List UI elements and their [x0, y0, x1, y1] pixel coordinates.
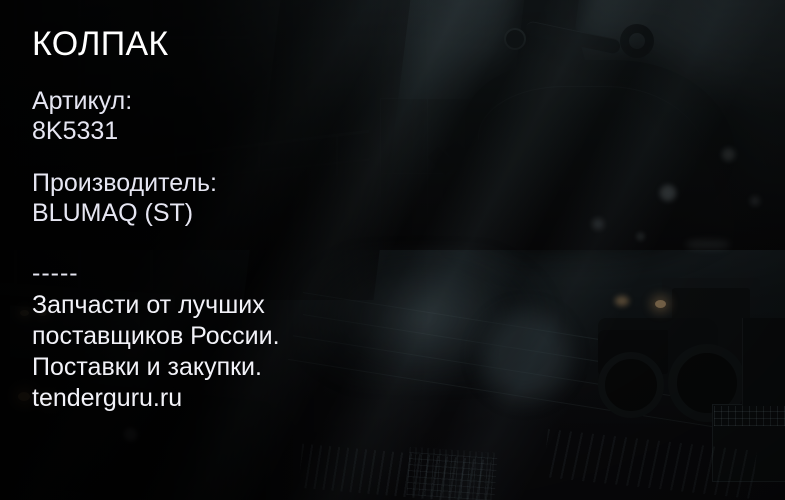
track-chain	[543, 429, 757, 499]
machine-light	[615, 296, 629, 306]
bokeh-light	[592, 218, 604, 230]
product-title: КОЛПАК	[32, 24, 452, 64]
machine-light	[20, 310, 29, 316]
machine-light	[18, 392, 30, 401]
tagline-line-3: Поставки и закупки.	[32, 352, 452, 383]
bokeh-light	[636, 232, 645, 241]
article-value: 8K5331	[32, 116, 452, 146]
article-label: Артикул:	[32, 86, 452, 116]
field-manufacturer: Производитель: BLUMAQ (ST)	[32, 168, 452, 228]
excavator-arm-secondary	[540, 0, 606, 141]
track-chain	[298, 444, 491, 500]
machine-light	[655, 300, 666, 308]
bokeh-light	[750, 196, 760, 206]
tractor-roof	[662, 278, 760, 292]
excavator-linkage	[524, 20, 621, 55]
bokeh-light	[124, 428, 137, 441]
field-article: Артикул: 8K5331	[32, 86, 452, 146]
product-card: КОЛПАК Артикул: 8K5331 Производитель: BL…	[0, 0, 785, 500]
site-url: tenderguru.ru	[32, 383, 452, 414]
card-content: КОЛПАК Артикул: 8K5331 Производитель: BL…	[32, 24, 452, 414]
tractor-cab	[672, 288, 750, 366]
mesh-floor-plate	[406, 447, 497, 500]
mesh-crate-grid	[714, 406, 785, 426]
tagline-line-2: поставщиков России.	[32, 321, 452, 352]
excavator-knuckle	[620, 24, 654, 58]
text-separator: -----	[32, 262, 452, 284]
tagline-block: Запчасти от лучших поставщиков России. П…	[32, 290, 452, 414]
tagline-line-1: Запчасти от лучших	[32, 290, 452, 321]
manufacturer-value: BLUMAQ (ST)	[32, 198, 452, 228]
bokeh-light	[686, 240, 730, 249]
bokeh-light	[722, 148, 735, 161]
excavator-pivot-pin	[504, 28, 526, 50]
mesh-crate	[712, 404, 785, 482]
manufacturer-label: Производитель:	[32, 168, 452, 198]
bokeh-light	[660, 185, 676, 201]
